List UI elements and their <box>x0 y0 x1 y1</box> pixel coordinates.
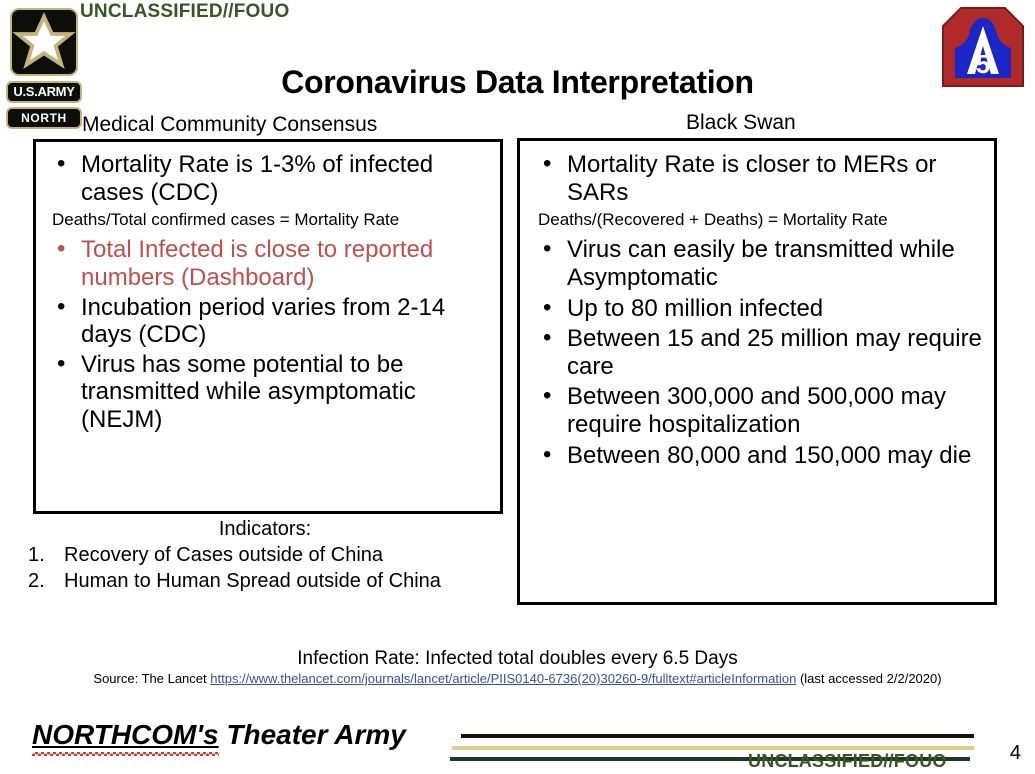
classification-marking-bottom: UNCLASSIFIED//FOUO <box>748 751 947 772</box>
medical-community-consensus-panel: Mortality Rate is 1-3% of infected cases… <box>33 139 503 514</box>
indicator-item: 2.Human to Human Spread outside of China <box>20 568 510 594</box>
left-bullet-list: Mortality Rate is 1-3% of infected cases… <box>36 142 500 434</box>
banner-rule-gold <box>452 746 974 750</box>
indicator-number: 1. <box>28 542 45 568</box>
indicators-section: Indicators: 1.Recovery of Cases outside … <box>20 518 510 595</box>
left-bullet-item: Virus has some potential to be transmitt… <box>50 351 490 434</box>
right-bullet-item: Up to 80 million infected <box>536 295 986 323</box>
banner-northcom-word: NORTHCOM's <box>32 719 219 751</box>
left-bullet-item: Mortality Rate is 1-3% of infected cases… <box>50 151 490 206</box>
banner-rule-black <box>461 734 974 738</box>
source-suffix: (last accessed 2/2/2020) <box>800 671 942 686</box>
army-logo-line-2: NORTH <box>6 107 82 129</box>
right-bullet-item: Virus can easily be transmitted while As… <box>536 236 986 291</box>
left-formula-line: Deaths/Total confirmed cases = Mortality… <box>50 209 490 230</box>
source-prefix: Source: The Lancet <box>93 671 206 686</box>
page-title: Coronavirus Data Interpretation <box>0 64 1035 101</box>
infection-rate-note: Infection Rate: Infected total doubles e… <box>0 648 1035 670</box>
black-swan-panel: Mortality Rate is closer to MERs or SARs… <box>517 138 997 605</box>
right-column-heading: Black Swan <box>686 111 796 135</box>
indicator-text: Recovery of Cases outside of China <box>64 544 383 566</box>
source-citation: Source: The Lancet https://www.thelancet… <box>0 671 1035 686</box>
indicator-item: 1.Recovery of Cases outside of China <box>20 542 510 568</box>
indicators-list: 1.Recovery of Cases outside of China2.Hu… <box>20 542 510 595</box>
footer-banner-text: NORTHCOM's Theater Army <box>32 719 406 751</box>
indicator-number: 2. <box>28 568 45 594</box>
right-bullet-item: Mortality Rate is closer to MERs or SARs <box>536 151 986 206</box>
left-bullet-item: Total Infected is close to reported numb… <box>50 236 490 291</box>
banner-theater-army-words: Theater Army <box>219 719 406 750</box>
left-column-heading: Medical Community Consensus <box>82 113 377 137</box>
indicator-text: Human to Human Spread outside of China <box>64 570 441 592</box>
right-bullet-item: Between 80,000 and 150,000 may die <box>536 442 986 470</box>
slide-number: 4 <box>1010 742 1021 765</box>
right-formula-line: Deaths/(Recovered + Deaths) = Mortality … <box>536 209 986 230</box>
right-bullet-item: Between 15 and 25 million may require ca… <box>536 325 986 380</box>
right-bullet-item: Between 300,000 and 500,000 may require … <box>536 383 986 438</box>
indicators-title: Indicators: <box>20 518 510 541</box>
classification-marking-top: UNCLASSIFIED//FOUO <box>80 1 289 23</box>
left-bullet-item: Incubation period varies from 2-14 days … <box>50 294 490 349</box>
slide: UNCLASSIFIED//FOUO U.S.ARMY NORTH 5 Coro… <box>0 0 1035 774</box>
source-url-link[interactable]: https://www.thelancet.com/journals/lance… <box>210 671 796 686</box>
right-bullet-list: Mortality Rate is closer to MERs or SARs… <box>520 141 994 469</box>
